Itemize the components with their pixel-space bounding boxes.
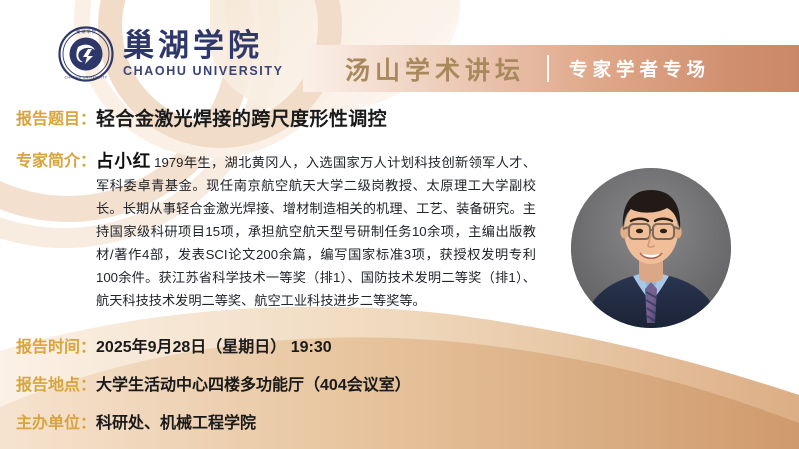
forum-banner: 汤山学术讲坛 专家学者专场 — [303, 45, 799, 92]
university-name-block: 巢湖学院 CHAOHU UNIVERSITY — [123, 30, 284, 78]
forum-banner-divider — [547, 55, 549, 82]
report-time-label: 报告时间： — [16, 334, 96, 361]
speaker-name: 占小红 — [96, 151, 151, 171]
university-logo-block: 巢 湖 学 院 CHAOHU UNIVERSITY 巢湖学院 CHAOHU UN… — [58, 26, 284, 82]
forum-banner-title: 汤山学术讲坛 — [345, 51, 525, 87]
report-title-value: 轻合金激光焊接的跨尺度形性调控 — [96, 107, 387, 133]
svg-text:CHAOHU UNIVERSITY: CHAOHU UNIVERSITY — [65, 76, 108, 80]
organizer-label: 主办单位： — [16, 410, 96, 437]
speaker-bio-body: 占小红1979年生，湖北黄冈人，入选国家万人计划科技创新领军人才、军科委卓青基金… — [96, 150, 536, 312]
speaker-portrait — [571, 168, 731, 328]
university-name-en: CHAOHU UNIVERSITY — [123, 65, 284, 78]
report-title-row: 报告题目： 轻合金激光焊接的跨尺度形性调控 — [16, 107, 799, 133]
speaker-bio-text: 1979年生，湖北黄冈人，入选国家万人计划科技创新领军人才、军科委卓青基金。现任… — [96, 155, 536, 308]
report-title-label: 报告题目： — [16, 107, 96, 133]
university-seal-icon: 巢 湖 学 院 CHAOHU UNIVERSITY — [58, 26, 114, 82]
lecture-poster: 巢 湖 学 院 CHAOHU UNIVERSITY 巢湖学院 CHAOHU UN… — [0, 0, 799, 449]
poster-header: 巢 湖 学 院 CHAOHU UNIVERSITY 巢湖学院 CHAOHU UN… — [0, 0, 799, 100]
organizer-row: 主办单位： 科研处、机械工程学院 — [16, 410, 799, 437]
university-name-cn: 巢湖学院 — [123, 30, 263, 61]
report-time-row: 报告时间： 2025年9月28日（星期日） 19:30 — [16, 334, 799, 361]
svg-text:巢 湖 学 院: 巢 湖 学 院 — [76, 28, 97, 35]
forum-banner-subtitle: 专家学者专场 — [569, 56, 710, 82]
report-place-value: 大学生活动中心四楼多功能厅（404会议室） — [96, 372, 411, 399]
report-time-value: 2025年9月28日（星期日） 19:30 — [96, 334, 332, 361]
speaker-bio-row: 专家简介： 占小红1979年生，湖北黄冈人，入选国家万人计划科技创新领军人才、军… — [16, 150, 536, 312]
report-place-row: 报告地点： 大学生活动中心四楼多功能厅（404会议室） — [16, 372, 799, 399]
report-place-label: 报告地点： — [16, 372, 96, 399]
speaker-bio-label: 专家简介： — [16, 150, 96, 173]
organizer-value: 科研处、机械工程学院 — [96, 410, 256, 437]
